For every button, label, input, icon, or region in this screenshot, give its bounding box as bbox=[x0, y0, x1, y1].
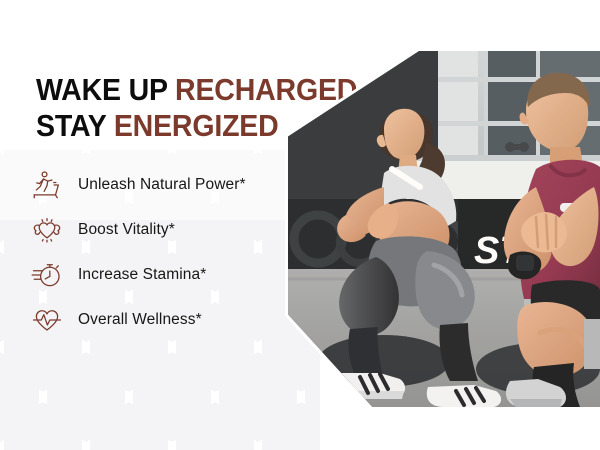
headline-line-2: STAY ENERGIZED bbox=[36, 108, 312, 144]
heart-pulse-icon bbox=[28, 301, 66, 339]
headline-line1-dark: WAKE UP bbox=[36, 72, 167, 107]
headline-line-1: WAKE UP RECHARGED bbox=[36, 72, 312, 108]
treadmill-running-icon bbox=[28, 166, 66, 204]
stopwatch-speed-icon bbox=[28, 256, 66, 294]
heart-flexing-arms-icon bbox=[28, 211, 66, 249]
benefit-item-overall-wellness: Overall Wellness* bbox=[28, 297, 298, 342]
benefit-item-boost-vitality: Boost Vitality* bbox=[28, 207, 298, 252]
promo-banner: WAKE UP RECHARGED STAY ENERGIZED bbox=[0, 0, 600, 450]
benefit-item-unleash-natural-power: Unleash Natural Power* bbox=[28, 162, 298, 207]
benefit-item-increase-stamina: Increase Stamina* bbox=[28, 252, 298, 297]
headline-line1-accent: RECHARGED bbox=[175, 72, 357, 107]
benefit-label: Unleash Natural Power* bbox=[78, 176, 246, 194]
benefit-label: Increase Stamina* bbox=[78, 266, 206, 284]
headline-line2-accent: ENERGIZED bbox=[114, 108, 279, 143]
headline-line2-dark: STAY bbox=[36, 108, 106, 143]
hero-photo: ST. bbox=[288, 51, 600, 407]
benefit-label: Overall Wellness* bbox=[78, 311, 202, 329]
benefits-list: Unleash Natural Power* Boost Vitality* bbox=[28, 162, 298, 342]
benefit-label: Boost Vitality* bbox=[78, 221, 175, 239]
